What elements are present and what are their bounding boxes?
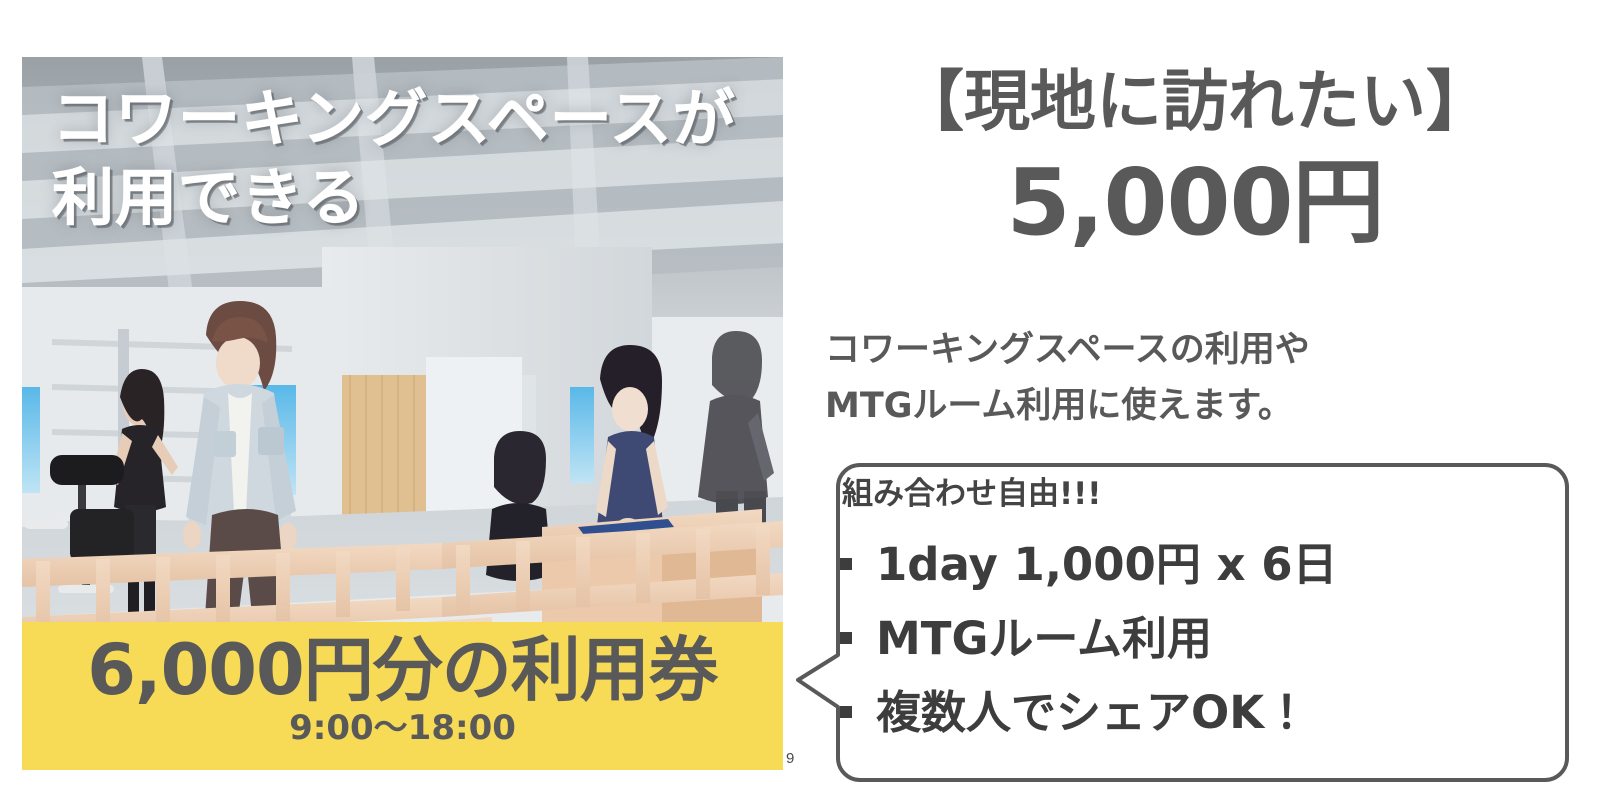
- photo-caption: コワーキングスペースが 利用できる: [52, 79, 752, 238]
- photo-caption-line-1: コワーキングスペースが: [52, 79, 752, 158]
- page-title: 【現地に訪れたい】: [800, 66, 1590, 139]
- slide-root: コワーキングスペースが 利用できる 6,000円分の利用券 9:00〜18:00…: [0, 0, 1600, 800]
- callout-bubble: 組み合わせ自由!!! 1day 1,000円 x 6日 MTGルーム利用 複数人…: [790, 455, 1580, 790]
- photo-caption-line-2: 利用できる: [52, 158, 752, 237]
- coworking-space-photo: コワーキングスペースが 利用できる 6,000円分の利用券 9:00〜18:00: [22, 57, 783, 770]
- coupon-amount-label: 6,000円分の利用券: [87, 634, 717, 708]
- list-item: 複数人でシェアOK！: [836, 675, 1566, 749]
- coupon-hours-label: 9:00〜18:00: [289, 710, 516, 747]
- callout-title: 組み合わせ自由!!!: [842, 477, 1101, 511]
- list-item-label: 1day 1,000円 x 6日: [876, 542, 1338, 587]
- right-content-column: 【現地に訪れたい】 5,000円 コワーキングスペースの利用や MTGルーム利用…: [800, 0, 1600, 800]
- description-text: コワーキングスペースの利用や MTGルーム利用に使えます。: [825, 322, 1545, 434]
- bullet-square-icon: [840, 706, 852, 718]
- callout-item-list: 1day 1,000円 x 6日 MTGルーム利用 複数人でシェアOK！: [836, 527, 1566, 749]
- coupon-banner: 6,000円分の利用券 9:00〜18:00: [22, 622, 783, 770]
- bullet-square-icon: [840, 558, 852, 570]
- description-line-1: コワーキングスペースの利用や: [825, 322, 1545, 378]
- price-amount: 5,000円: [800, 155, 1590, 252]
- description-line-2: MTGルーム利用に使えます。: [825, 378, 1545, 434]
- bullet-square-icon: [840, 632, 852, 644]
- list-item: MTGルーム利用: [836, 601, 1566, 675]
- list-item: 1day 1,000円 x 6日: [836, 527, 1566, 601]
- list-item-label: MTGルーム利用: [876, 616, 1212, 661]
- list-item-label: 複数人でシェアOK！: [876, 690, 1309, 735]
